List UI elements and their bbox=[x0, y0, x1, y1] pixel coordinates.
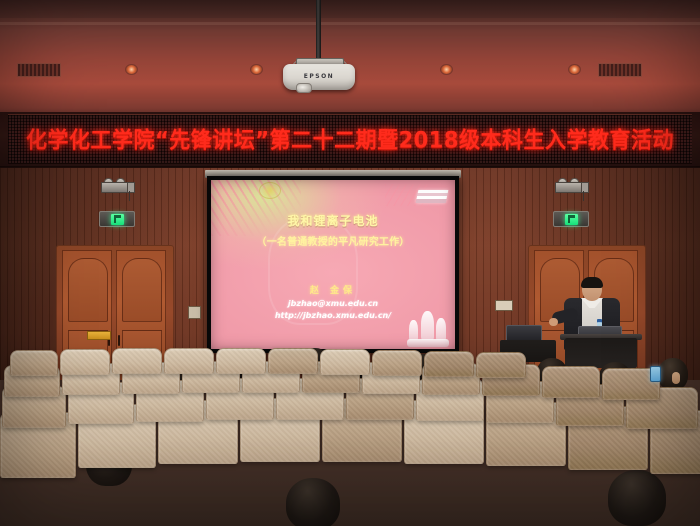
emergency-cable bbox=[583, 191, 584, 201]
auditorium-seat bbox=[216, 348, 266, 374]
ceiling-downlight-1 bbox=[125, 64, 138, 75]
statue-figure bbox=[409, 320, 418, 340]
emergency-light-right bbox=[555, 178, 585, 191]
ceiling-vent-right bbox=[598, 63, 642, 77]
ceiling-downlight-3 bbox=[440, 64, 453, 75]
slide-title: 我和锂离子电池 bbox=[211, 212, 455, 229]
ceiling-vent-left bbox=[17, 63, 61, 77]
door-sticker bbox=[87, 331, 111, 340]
presentation-slide: 我和锂离子电池 （一名普通教授的平凡研究工作） 赵 金保 jbzhao@xmu.… bbox=[211, 180, 455, 349]
auditorium-seat bbox=[424, 351, 474, 377]
slide-statue-decoration bbox=[405, 301, 451, 347]
speaker-hair bbox=[581, 277, 603, 288]
ceiling-downlight-2 bbox=[250, 64, 263, 75]
emergency-light-body bbox=[101, 182, 129, 193]
ceiling-downlight-4 bbox=[568, 64, 581, 75]
auditorium-seat bbox=[372, 350, 422, 376]
audience-head bbox=[286, 478, 340, 526]
lecture-hall-photo: EPSON 化学化工学院“先锋讲坛”第二十二期暨2018级本科生入学教育活动 bbox=[0, 0, 700, 526]
audience-head bbox=[608, 470, 666, 526]
slide-building-shape bbox=[416, 190, 449, 203]
auditorium-seat bbox=[320, 349, 370, 375]
door-panel-top bbox=[68, 258, 108, 322]
exit-sign-left bbox=[99, 211, 135, 227]
led-banner: 化学化工学院“先锋讲坛”第二十二期暨2018级本科生入学教育活动 bbox=[8, 114, 692, 164]
ceiling-band bbox=[0, 0, 700, 18]
projector-lens-icon bbox=[296, 83, 312, 93]
emergency-cable bbox=[129, 191, 130, 201]
wall-switch-plate-right[interactable] bbox=[495, 300, 513, 311]
auditorium-seat bbox=[542, 366, 600, 398]
statue-figure bbox=[436, 318, 446, 340]
statue-figure bbox=[421, 311, 434, 340]
slide-building-decoration bbox=[405, 184, 449, 206]
door-handle[interactable] bbox=[118, 335, 120, 346]
auditorium-seat bbox=[164, 348, 214, 374]
projector-brand-label: EPSON bbox=[283, 73, 355, 80]
exit-running-man-icon bbox=[111, 214, 124, 225]
exit-sign-right bbox=[553, 211, 589, 227]
auditorium-seat bbox=[268, 348, 318, 374]
ceiling-seam bbox=[0, 22, 700, 25]
auditorium-seat bbox=[112, 348, 162, 374]
slide-emblem-icon bbox=[259, 182, 281, 199]
exit-running-man-icon bbox=[565, 214, 578, 225]
slide-subtitle: （一名普通教授的平凡研究工作） bbox=[211, 233, 455, 248]
speaker-hand bbox=[549, 318, 558, 326]
projection-screen: 我和锂离子电池 （一名普通教授的平凡研究工作） 赵 金保 jbzhao@xmu.… bbox=[207, 176, 459, 353]
auditorium-seat bbox=[60, 349, 110, 375]
led-banner-text: 化学化工学院“先锋讲坛”第二十二期暨2018级本科生入学教育活动 bbox=[26, 123, 674, 155]
auditorium-seat bbox=[10, 350, 58, 376]
podium bbox=[565, 338, 637, 368]
wall-switch-plate-left[interactable] bbox=[188, 306, 201, 319]
auditorium-seat bbox=[476, 352, 526, 378]
statue-base bbox=[407, 339, 449, 347]
emergency-light-left bbox=[101, 178, 131, 191]
projector: EPSON bbox=[283, 64, 355, 90]
attendee-hand bbox=[672, 372, 680, 384]
emergency-light-body bbox=[555, 182, 583, 193]
door-panel-top bbox=[122, 258, 162, 322]
slide-speaker-name: 赵 金保 bbox=[211, 283, 455, 296]
ceiling bbox=[0, 0, 700, 120]
projector-pole bbox=[316, 0, 321, 62]
attendee-phone bbox=[650, 366, 661, 382]
